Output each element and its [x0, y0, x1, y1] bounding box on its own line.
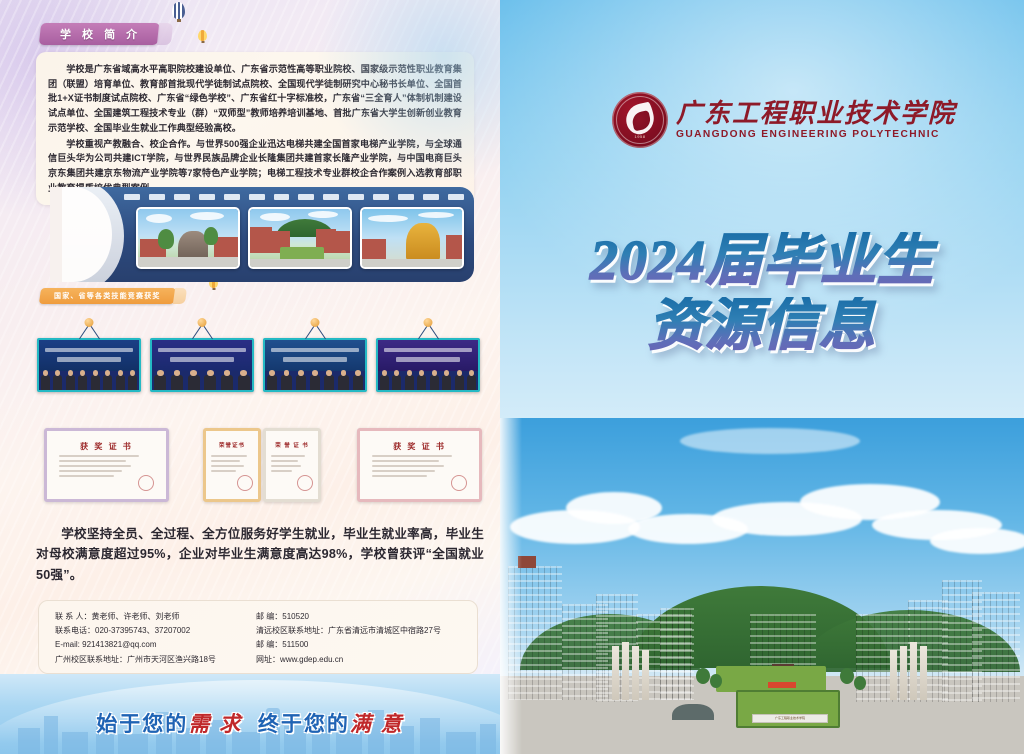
photo-column: [612, 646, 619, 700]
seal-year: 1958: [612, 134, 668, 139]
campus-photo-1: [136, 207, 240, 269]
school-intro-card: 学校是广东省域高水平高职院校建设单位、广东省示范性高等职业院校、国家级示范性职业…: [36, 52, 474, 205]
photo-campus-sign: 广东工程职业技术学院: [752, 714, 828, 723]
footer-slogan: 始于您的需 求 终于您的满 意: [0, 708, 500, 738]
hanger-hook-icon: [424, 318, 433, 327]
hot-air-balloon-icon: [172, 2, 185, 19]
photo-column: [910, 642, 917, 700]
slogan-part-1: 始于您的: [96, 713, 188, 736]
contact-qingyuan-address: 清远校区联系地址：广东省清远市清城区中宿路27号: [256, 624, 477, 638]
certificate-3-title: 荣 誉 证 书: [266, 441, 318, 449]
section-tag-label: 学 校 简 介: [60, 26, 141, 42]
photo-left-fade: [500, 418, 522, 754]
contact-email[interactable]: E-mail: 921413821@qq.com: [55, 638, 256, 652]
campus-photo-filmstrip: [50, 187, 474, 282]
tag-tail: [157, 23, 173, 45]
slogan-accent-1: 需 求: [188, 713, 242, 736]
campus-photo-3: [360, 207, 464, 269]
photo-building: [972, 592, 1020, 702]
school-name-block: 广东工程职业技术学院 GUANGDONG ENGINEERING POLYTEC…: [676, 100, 956, 140]
hero-title: 2024届毕业生 资源信息: [500, 232, 1024, 357]
contact-phone: 联系电话：020-37395743、37207002: [55, 624, 256, 638]
hanger-hook-icon: [311, 318, 320, 327]
photo-lawn: [716, 666, 826, 692]
employment-statement: 学校坚持全员、全过程、全方位服务好学生就业，毕业生就业率高，毕业生对母校满意度超…: [36, 524, 484, 585]
certificate-4-seal: [451, 475, 467, 491]
competition-photo-1-image: [37, 338, 141, 392]
photo-column: [920, 646, 927, 700]
certificate-2: 荣誉证书: [203, 428, 261, 502]
filmstrip-photo-list: [136, 207, 464, 269]
certificate-1: 获 奖 证 书: [44, 428, 169, 502]
competition-photo-2: [150, 322, 254, 392]
contact-card: 联 系 人：黄老师、许老师、刘老师 联系电话：020-37395743、3720…: [38, 600, 478, 674]
photo-column: [890, 650, 897, 700]
school-name-en: GUANGDONG ENGINEERING POLYTECHNIC: [676, 129, 956, 140]
photo-cloud: [680, 428, 860, 454]
photo-building: [660, 608, 694, 700]
hanger-hook-icon: [198, 318, 207, 327]
hot-air-balloon-small-icon: [198, 30, 207, 41]
competition-photo-2-image: [150, 338, 254, 392]
photo-red-banner: [768, 682, 796, 688]
section-tag-awards: 国家、省等各类技能竞赛获奖: [39, 288, 176, 304]
photo-column: [900, 646, 907, 700]
competition-photo-4: [376, 322, 480, 392]
certificate-2-seal: [237, 475, 253, 491]
competition-photo-4-image: [376, 338, 480, 392]
filmstrip-perforations: [124, 194, 464, 200]
photo-column: [632, 646, 639, 700]
school-seal-icon: 1958: [612, 92, 668, 148]
contact-website[interactable]: 网址：www.gdep.edu.cn: [256, 653, 477, 667]
awards-tag-tail: [172, 288, 186, 304]
campus-photo-2: [248, 207, 352, 269]
competition-photo-3: [263, 322, 367, 392]
photo-tree: [696, 668, 710, 684]
certificate-4: 获 奖 证 书: [357, 428, 482, 502]
certificate-1-seal: [138, 475, 154, 491]
contact-postcode-guangzhou: 邮 编：510520: [256, 610, 477, 624]
certificate-1-title: 获 奖 证 书: [47, 441, 166, 452]
section-tag-school-intro: 学 校 简 介: [39, 23, 160, 45]
photo-column: [642, 650, 649, 700]
certificate-row: 获 奖 证 书 荣誉证书 荣 誉 证 书: [36, 424, 482, 506]
slogan-accent-2: 满 意: [350, 713, 404, 736]
hero-title-line-2: 资源信息: [500, 297, 1024, 356]
certificate-4-title: 获 奖 证 书: [360, 441, 479, 452]
photo-column: [622, 642, 629, 700]
contact-postcode-qingyuan: 邮 编：511500: [256, 638, 477, 652]
photo-cloud: [930, 528, 1024, 554]
slogan-part-2: 终于您的: [258, 713, 350, 736]
certificate-3-body: [271, 455, 313, 475]
poster-page: 学 校 简 介 学校是广东省域高水平高职院校建设单位、广东省示范性高等职业院校、…: [0, 0, 1024, 754]
contact-guangzhou-address: 广州校区联系地址：广州市天河区渔兴路18号: [55, 653, 256, 667]
certificate-3-seal: [297, 475, 313, 491]
footer-skyline-band: 始于您的需 求 终于您的满 意: [0, 674, 500, 754]
left-panel: 学 校 简 介 学校是广东省域高水平高职院校建设单位、广东省示范性高等职业院校、…: [0, 0, 500, 754]
photo-tree: [840, 668, 854, 684]
certificate-2-body: [211, 455, 253, 475]
contact-person: 联 系 人：黄老师、许老师、刘老师: [55, 610, 256, 624]
hero-title-line-1: 2024届毕业生: [500, 232, 1024, 291]
certificate-2-title: 荣誉证书: [206, 441, 258, 449]
campus-hero-photo: 广东工程职业技术学院: [500, 418, 1024, 754]
intro-paragraph-1: 学校是广东省域高水平高职院校建设单位、广东省示范性高等职业院校、国家级示范性职业…: [48, 62, 462, 136]
contact-column-right: 邮 编：510520 清远校区联系地址：广东省清远市清城区中宿路27号 邮 编：…: [256, 610, 477, 673]
certificate-3: 荣 誉 证 书: [263, 428, 321, 502]
school-name-cn: 广东工程职业技术学院: [676, 100, 956, 128]
photo-tree: [854, 676, 866, 690]
photo-gate-canopy: [672, 704, 714, 720]
hanger-hook-icon: [85, 318, 94, 327]
photo-tree: [710, 674, 722, 688]
school-logo-lockup: 1958 广东工程职业技术学院 GUANGDONG ENGINEERING PO…: [612, 92, 956, 148]
awards-tag-label: 国家、省等各类技能竞赛获奖: [54, 291, 161, 301]
competition-photo-3-image: [263, 338, 367, 392]
filmstrip-wave-edge-2: [62, 187, 124, 282]
contact-column-left: 联 系 人：黄老师、许老师、刘老师 联系电话：020-37395743、3720…: [39, 610, 256, 673]
competition-photo-1: [37, 322, 141, 392]
competition-photo-row: [37, 322, 481, 392]
